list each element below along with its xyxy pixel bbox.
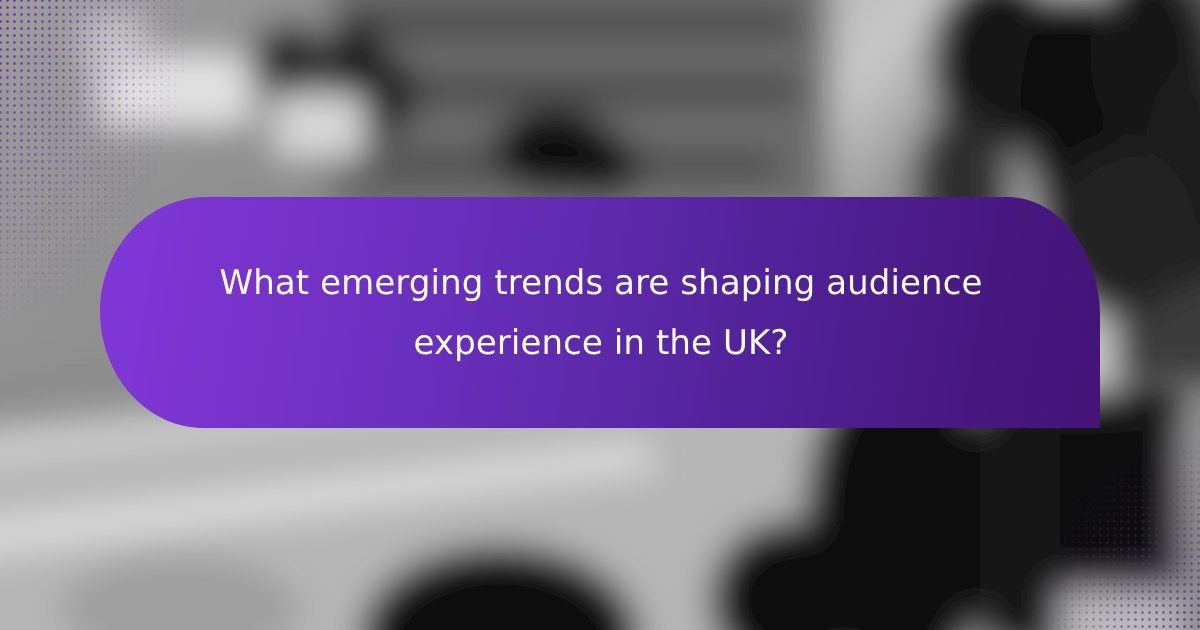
headline-banner: What emerging trends are shaping audienc… xyxy=(100,197,1100,428)
social-card: What emerging trends are shaping audienc… xyxy=(0,0,1200,630)
page-title: What emerging trends are shaping audienc… xyxy=(214,253,986,373)
